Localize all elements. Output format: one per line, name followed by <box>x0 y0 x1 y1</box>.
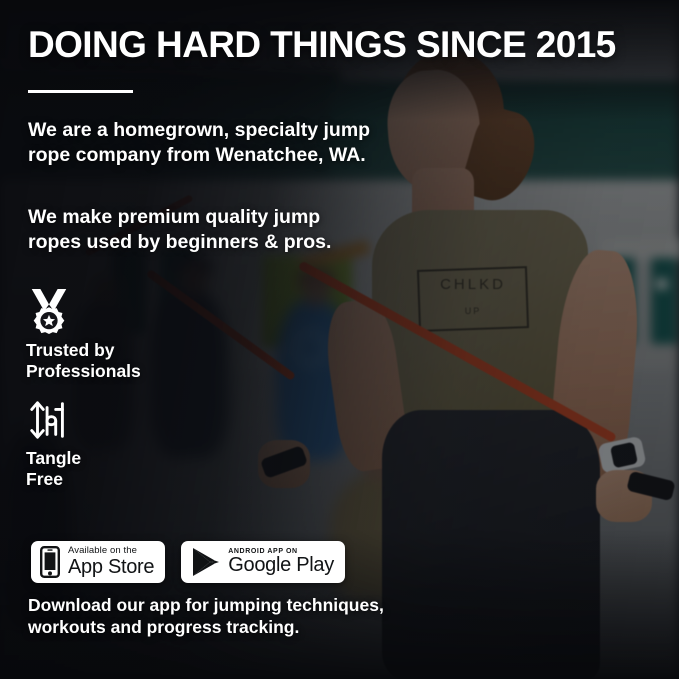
feature-label: Tangle Free <box>26 448 81 489</box>
headline-divider <box>28 90 133 93</box>
google-play-badge-big-text: Google Play <box>228 555 334 576</box>
banner-content: DOING HARD THINGS SINCE 2015 We are a ho… <box>0 0 679 679</box>
app-store-badge-text: Available on the App Store <box>68 546 154 577</box>
feature-tangle-free: Tangle Free <box>26 396 81 489</box>
app-store-badge-big-text: App Store <box>68 557 154 578</box>
app-store-badge[interactable]: Available on the App Store <box>31 541 165 583</box>
headline: DOING HARD THINGS SINCE 2015 <box>28 26 653 65</box>
intro-paragraph-1: We are a homegrown, specialty jump rope … <box>28 118 376 168</box>
google-play-badge[interactable]: ANDROID APP ON Google Play <box>181 541 345 583</box>
app-store-badges: Available on the App Store ANDROID APP O… <box>31 541 345 583</box>
intro-paragraph-2: We make premium quality jump ropes used … <box>28 205 376 255</box>
tangle-free-icon <box>26 396 72 444</box>
medal-icon <box>26 288 72 336</box>
feature-label: Trusted by Professionals <box>26 340 141 381</box>
google-play-badge-text: ANDROID APP ON Google Play <box>228 548 334 577</box>
promo-banner: CHLKD UP DOING HARD THINGS SINCE 2015 We… <box>0 0 679 679</box>
apple-iphone-icon <box>40 546 60 578</box>
app-footnote: Download our app for jumping techniques,… <box>28 595 418 639</box>
feature-trusted-by-professionals: Trusted by Professionals <box>26 288 141 381</box>
google-play-icon <box>190 546 220 578</box>
